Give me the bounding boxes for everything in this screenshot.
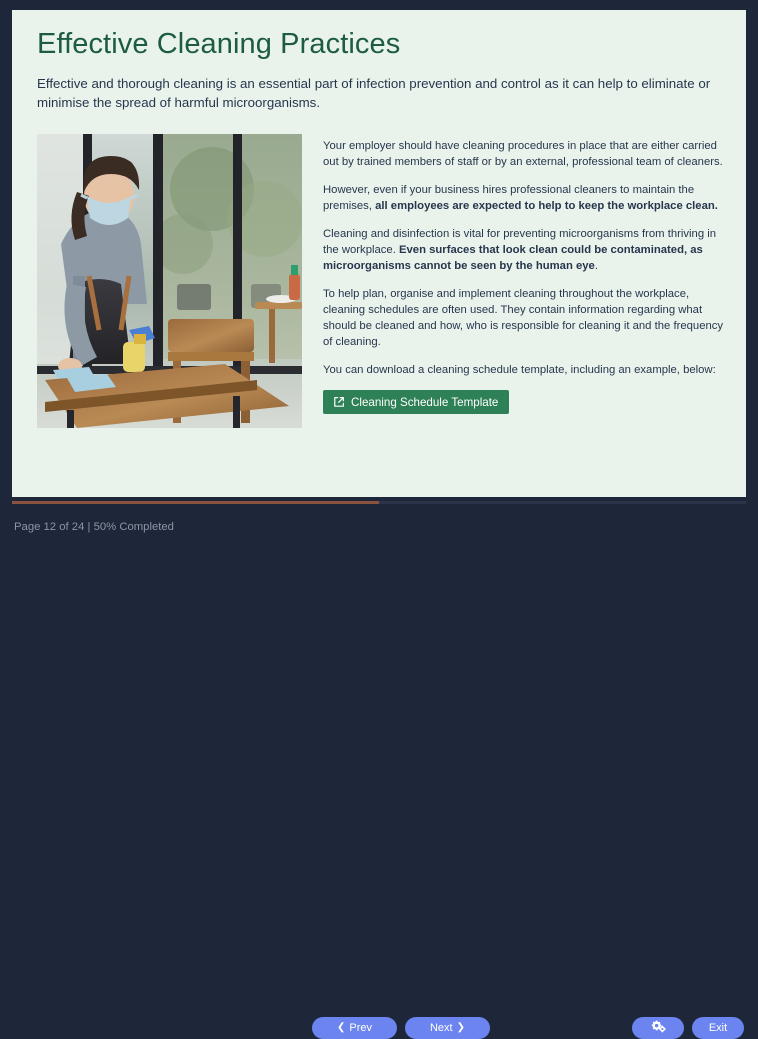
footer-right-controls: Exit: [632, 1017, 744, 1039]
body-paragraph: Your employer should have cleaning proce…: [323, 138, 724, 170]
chevron-right-icon: ❯: [457, 1023, 465, 1033]
body-paragraph: Cleaning and disinfection is vital for p…: [323, 226, 724, 274]
body-paragraph: However, even if your business hires pro…: [323, 182, 724, 214]
slide-intro-text: Effective and thorough cleaning is an es…: [37, 75, 724, 112]
exit-label: Exit: [709, 1023, 727, 1034]
cleaning-schedule-template-button[interactable]: Cleaning Schedule Template: [323, 390, 509, 414]
exit-button[interactable]: Exit: [692, 1017, 744, 1039]
body-paragraph: To help plan, organise and implement cle…: [323, 286, 724, 350]
next-button[interactable]: Next ❯: [405, 1017, 490, 1039]
chevron-left-icon: ❮: [337, 1023, 345, 1033]
cta-label: Cleaning Schedule Template: [351, 397, 498, 409]
cleaning-photo: [37, 134, 302, 428]
external-link-icon: [333, 396, 345, 408]
settings-button[interactable]: [632, 1017, 684, 1039]
page-status-text: Page 12 of 24 | 50% Completed: [14, 521, 174, 533]
next-label: Next: [430, 1023, 453, 1034]
course-player-frame: Effective Cleaning Practices Effective a…: [0, 0, 758, 560]
player-footer: Page 12 of 24 | 50% Completed ❮ Prev Nex…: [0, 505, 758, 560]
slide-content: Effective Cleaning Practices Effective a…: [37, 28, 724, 485]
body-paragraph: You can download a cleaning schedule tem…: [323, 362, 724, 378]
prev-label: Prev: [349, 1023, 372, 1034]
course-progress-bar: [12, 501, 746, 504]
prev-button[interactable]: ❮ Prev: [312, 1017, 397, 1039]
course-progress-fill: [12, 501, 379, 504]
cogs-icon: [651, 1020, 666, 1036]
slide-body: Your employer should have cleaning proce…: [37, 134, 724, 485]
slide-card: Effective Cleaning Practices Effective a…: [12, 10, 746, 497]
cleaning-photo-illustration: [37, 134, 302, 428]
page-title: Effective Cleaning Practices: [37, 28, 724, 61]
navigation-buttons: ❮ Prev Next ❯: [312, 1017, 490, 1039]
slide-text-column: Your employer should have cleaning proce…: [323, 134, 724, 414]
